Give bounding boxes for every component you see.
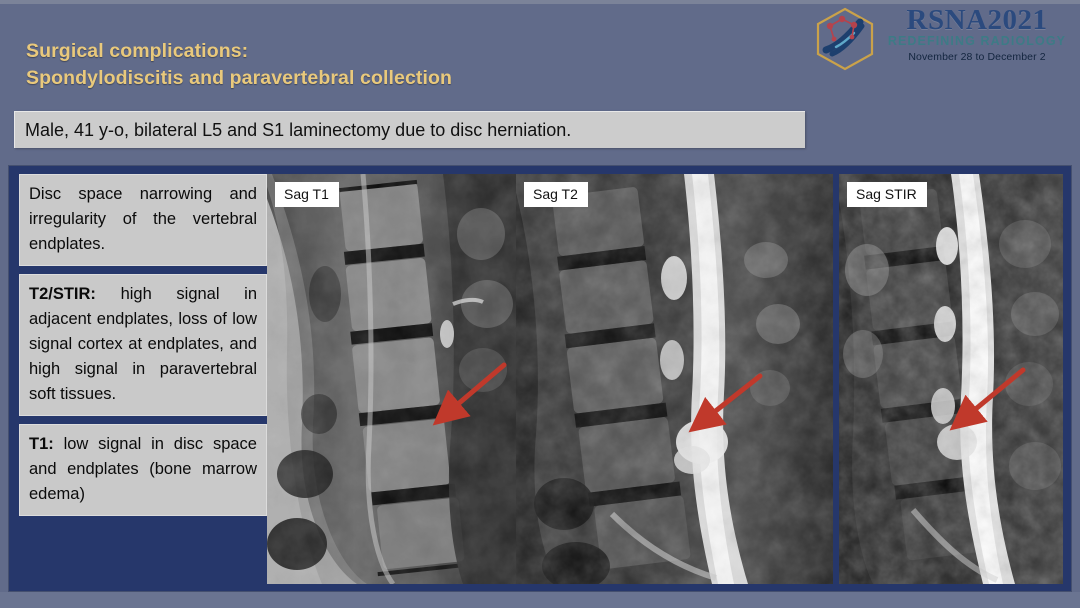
finding-box-t1: T1: low signal in disc space and endplat… (19, 424, 267, 516)
findings-column: Disc space narrowing and irregularity of… (19, 174, 267, 524)
rsna-acronym: RSNA (907, 4, 988, 36)
finding-box-endplates: Disc space narrowing and irregularity of… (19, 174, 267, 266)
title-line-2: Spondylodiscitis and paravertebral colle… (26, 65, 726, 92)
mri-sag-t2-label: Sag T2 (524, 182, 588, 207)
mri-sag-t1-arrow-icon (422, 359, 512, 434)
rsna-tagline: REDEFINING RADIOLOGY (882, 34, 1072, 49)
mri-sag-t2-panel[interactable]: Sag T2 (516, 174, 833, 584)
finding-label-t1: T1: (29, 435, 54, 453)
mri-sag-t1-label: Sag T1 (275, 182, 339, 207)
mri-sag-t1-panel[interactable]: Sag T1 (267, 174, 516, 584)
presentation-slide: Surgical complications: Spondylodiscitis… (0, 0, 1080, 608)
rsna-year: 2021 (987, 4, 1047, 36)
rsna-logo: RSNA2021 REDEFINING RADIOLOGY November 2… (790, 2, 1074, 76)
rsna-wordmark: RSNA2021 REDEFINING RADIOLOGY November 2… (882, 4, 1072, 64)
title-line-1: Surgical complications: (26, 38, 726, 65)
rsna-dates: November 28 to December 2 (882, 50, 1072, 64)
case-description-banner: Male, 41 y-o, bilateral L5 and S1 lamine… (14, 111, 805, 148)
rsna-name-line: RSNA2021 (882, 4, 1072, 36)
slide-footer-strip (0, 592, 1080, 608)
slide-content-area: Disc space narrowing and irregularity of… (8, 165, 1072, 592)
rsna-hexagon-icon (812, 6, 878, 72)
case-description-text: Male, 41 y-o, bilateral L5 and S1 lamine… (15, 120, 571, 141)
finding-text-t1: low signal in disc space and endplates (… (29, 435, 257, 503)
slide-title: Surgical complications: Spondylodiscitis… (26, 38, 726, 92)
mri-sag-stir-label: Sag STIR (847, 182, 927, 207)
finding-label-t2-stir: T2/STIR: (29, 285, 96, 303)
finding-box-t2-stir: T2/STIR: high signal in adjacent endplat… (19, 274, 267, 416)
mri-sag-t2-image (516, 174, 833, 584)
mri-sag-stir-panel[interactable]: Sag STIR (839, 174, 1063, 584)
mri-sag-stir-arrow-icon (939, 364, 1029, 439)
slide-header: Surgical complications: Spondylodiscitis… (0, 0, 1080, 165)
mri-sag-t2-arrow-icon (676, 370, 766, 440)
finding-text-endplates: Disc space narrowing and irregularity of… (29, 185, 257, 253)
